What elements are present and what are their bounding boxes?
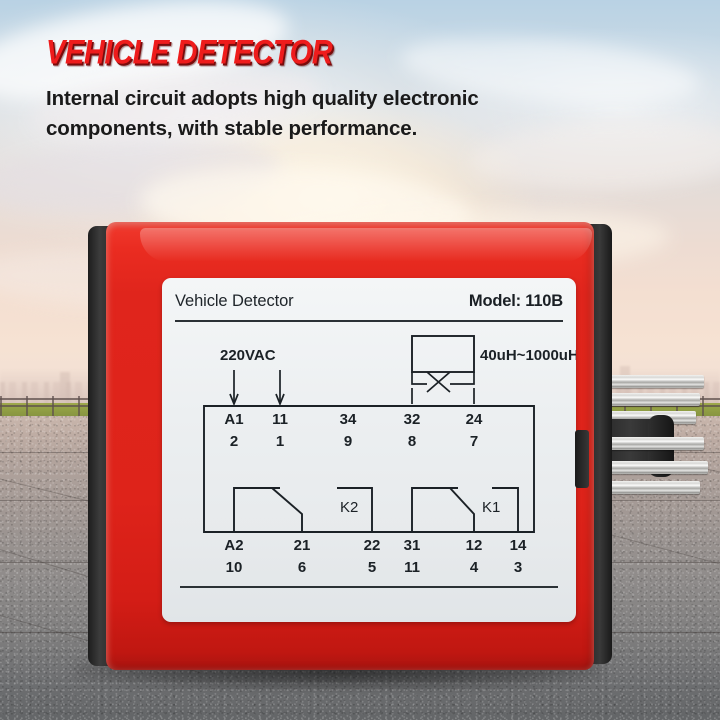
coil-lead-right — [450, 372, 474, 384]
bottom-terminal-pin-2: 5 — [368, 559, 376, 576]
label-header-divider — [175, 320, 563, 322]
top-terminal-name-4: 24 — [466, 411, 483, 428]
top-terminal-name-3: 32 — [404, 411, 421, 428]
bottom-terminal-name-0: A2 — [224, 537, 243, 554]
label-footer-divider — [180, 586, 558, 588]
shell-highlight — [140, 228, 592, 262]
loop-coil-symbol — [412, 336, 474, 372]
bottom-terminal-pin-3: 11 — [404, 559, 420, 576]
page-title: VEHICLE DETECTOR — [46, 34, 332, 73]
coil-lead-left — [412, 372, 427, 384]
k1-moving-contact — [450, 488, 474, 532]
bottom-terminal-pin-5: 3 — [514, 559, 522, 576]
connector-pin — [608, 461, 708, 474]
label-header: Vehicle Detector Model: 110B — [175, 292, 563, 320]
top-terminal-name-0: A1 — [224, 411, 243, 428]
label-product-name: Vehicle Detector — [175, 292, 294, 311]
connector-pin — [608, 437, 704, 450]
device-side-latch — [575, 430, 589, 488]
device-face-label: Vehicle Detector Model: 110B 40uH~1000uH — [162, 278, 576, 622]
relay-k1-label: K1 — [482, 499, 500, 516]
connector-pin — [608, 393, 700, 406]
top-terminal-pin-3: 8 — [408, 433, 416, 450]
bottom-terminal-pin-0: 10 — [226, 559, 243, 576]
bottom-terminal-name-5: 14 — [510, 537, 527, 554]
bottom-terminal-pin-4: 4 — [470, 559, 479, 576]
bottom-terminal-name-3: 31 — [404, 537, 421, 554]
top-terminal-pin-4: 7 — [470, 433, 478, 450]
page-subtitle: Internal circuit adopts high quality ele… — [46, 84, 576, 144]
label-model-number: Model: 110B — [469, 292, 563, 311]
k2-moving-contact — [272, 488, 302, 532]
supply-voltage-label: 220VAC — [220, 347, 276, 364]
top-terminal-pin-0: 2 — [230, 433, 238, 450]
inductance-range-label: 40uH~1000uH — [480, 347, 576, 364]
connector-pins — [608, 375, 720, 495]
top-terminal-pin-1: 1 — [276, 433, 284, 450]
device-red-shell: Vehicle Detector Model: 110B 40uH~1000uH — [106, 222, 594, 670]
connector-pin — [608, 375, 704, 388]
relay-k2-label: K2 — [340, 499, 358, 516]
product-photo-scene: VEHICLE DETECTOR Internal circuit adopts… — [0, 0, 720, 720]
bottom-terminal-name-1: 21 — [294, 537, 311, 554]
top-terminal-pin-2: 9 — [344, 433, 352, 450]
k2-common-wire — [234, 488, 280, 532]
bottom-terminal-pin-1: 6 — [298, 559, 306, 576]
top-terminal-name-1: 11 — [272, 411, 288, 428]
wiring-diagram: 40uH~1000uH 220VAC A1 2 11 1 34 9 — [162, 326, 576, 580]
k1-common-wire — [412, 488, 458, 532]
bottom-terminal-name-2: 22 — [364, 537, 381, 554]
connector-pin — [608, 481, 700, 494]
bottom-terminal-name-4: 12 — [466, 537, 483, 554]
twisted-pair-symbol — [427, 372, 450, 392]
top-terminal-name-2: 34 — [340, 411, 357, 428]
vehicle-detector-device: Vehicle Detector Model: 110B 40uH~1000uH — [88, 222, 612, 670]
